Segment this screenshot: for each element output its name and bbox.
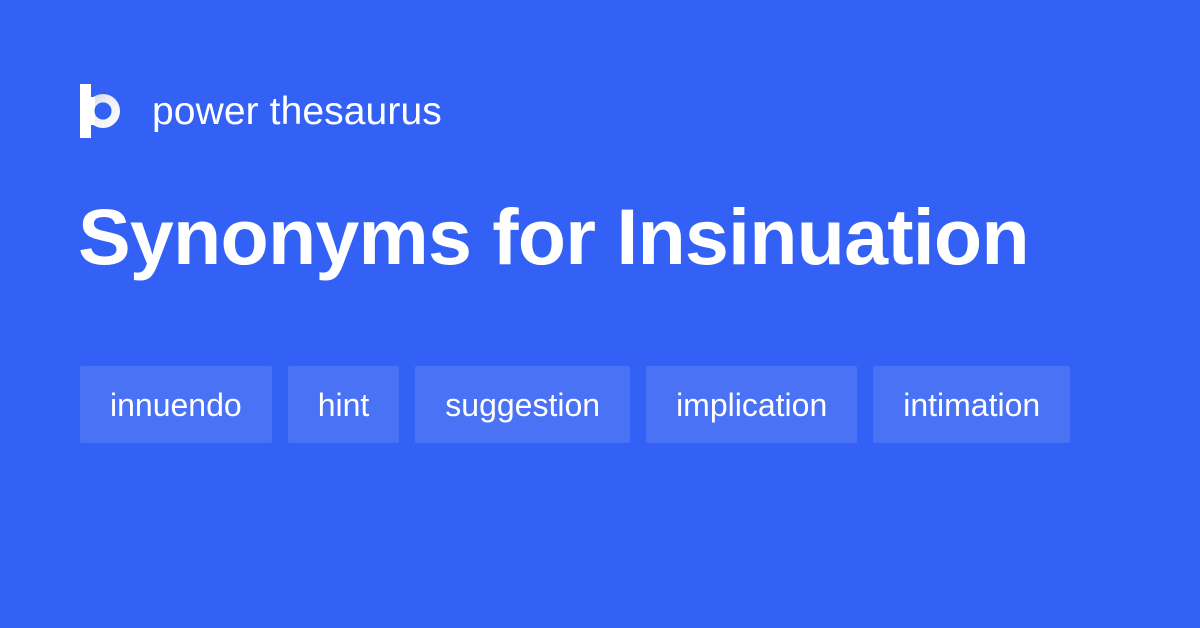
synonym-chip[interactable]: implication [646,366,857,443]
synonym-chip[interactable]: hint [288,366,400,443]
brand-lockup[interactable]: power thesaurus [80,82,442,140]
synonym-chip[interactable]: intimation [873,366,1070,443]
synonym-chip-list: innuendo hint suggestion implication int… [80,366,1120,443]
synonym-chip[interactable]: suggestion [415,366,630,443]
brand-name: power thesaurus [152,92,442,131]
synonym-chip[interactable]: innuendo [80,366,272,443]
page-title: Synonyms for Insinuation [78,196,1029,278]
power-thesaurus-b-logo-icon [80,84,126,138]
share-card: power thesaurus Synonyms for Insinuation… [0,0,1200,628]
